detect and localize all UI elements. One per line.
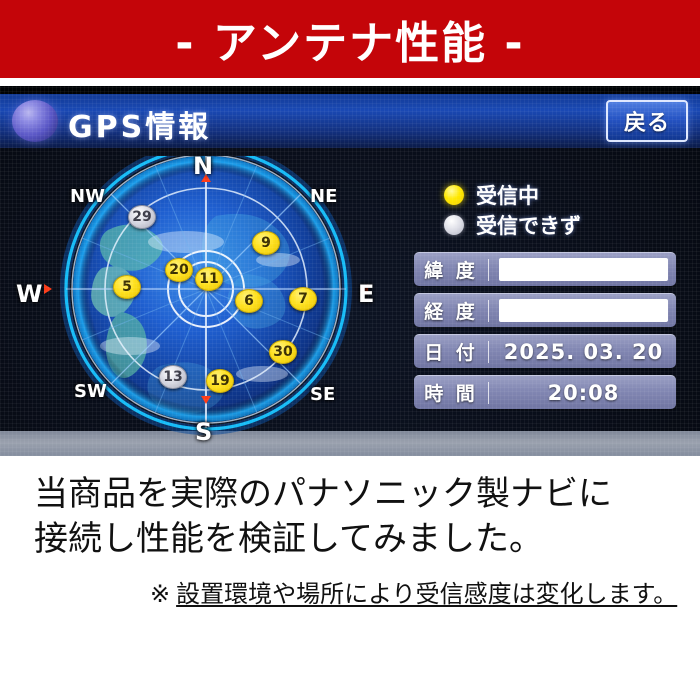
compass-label-ne: NE — [310, 186, 337, 207]
info-row: 緯 度 — [414, 252, 676, 286]
satellite-marker: 9 — [252, 231, 280, 255]
legend-dot-not-receiving-icon — [444, 215, 464, 235]
promo-page: - アンテナ性能 - GPS情報 戻る — [0, 0, 700, 700]
info-row-value: 2025. 03. 20 — [499, 340, 668, 363]
legend-item: 受信中 — [444, 180, 581, 210]
back-button-label: 戻る — [624, 105, 670, 137]
info-row-label: 経 度 — [414, 297, 488, 324]
satellite-skyplot: N S W E NW NE SW SE 2992011567301319 — [10, 156, 410, 446]
satellite-marker: 20 — [165, 258, 193, 282]
screen-title: GPS情報 — [68, 102, 211, 146]
satellite-marker: 30 — [269, 340, 297, 364]
info-row-value: 20:08 — [499, 381, 668, 404]
body-copy-line1: 当商品を実際のパナソニック製ナビに — [34, 472, 674, 517]
disclaimer-note: ※設置環境や場所により受信感度は変化します。 — [150, 578, 690, 610]
navi-screen-photo: GPS情報 戻る — [0, 86, 700, 456]
satellite-marker: 5 — [113, 275, 141, 299]
gps-info-table: 緯 度経 度日 付2025. 03. 20時 間20:08 — [414, 252, 676, 416]
body-copy-line2: 接続し性能を検証してみました。 — [34, 517, 674, 562]
body-copy: 当商品を実際のパナソニック製ナビに 接続し性能を検証してみました。 — [34, 472, 674, 562]
legend-dot-receiving-icon — [444, 185, 464, 205]
screen-top-bezel — [0, 86, 700, 94]
satellite-marker: 19 — [206, 369, 234, 393]
note-mark: ※ — [150, 578, 170, 610]
reception-legend: 受信中 受信できず — [444, 180, 581, 240]
info-row: 時 間20:08 — [414, 375, 676, 409]
legend-label-not-receiving: 受信できず — [476, 210, 581, 240]
compass-label-e: E — [358, 280, 374, 308]
compass-label-w: W — [16, 280, 42, 308]
info-row: 日 付2025. 03. 20 — [414, 334, 676, 368]
info-row-value — [499, 258, 668, 281]
satellite-marker: 13 — [159, 365, 187, 389]
info-row: 経 度 — [414, 293, 676, 327]
compass-label-sw: SW — [74, 381, 107, 402]
info-row-divider — [488, 300, 489, 322]
back-button[interactable]: 戻る — [606, 100, 688, 142]
compass-label-n: N — [193, 152, 213, 180]
info-row-value — [499, 299, 668, 322]
legend-label-receiving: 受信中 — [476, 180, 539, 210]
banner-title: - アンテナ性能 - — [0, 0, 700, 78]
note-text: 設置環境や場所により受信感度は変化します。 — [176, 580, 677, 608]
info-row-divider — [488, 341, 489, 363]
compass-label-nw: NW — [70, 186, 105, 207]
satellite-marker: 7 — [289, 287, 317, 311]
legend-item: 受信できず — [444, 210, 581, 240]
satellite-marker: 11 — [195, 267, 223, 291]
satellite-marker: 29 — [128, 205, 156, 229]
info-row-divider — [488, 382, 489, 404]
compass-label-s: S — [195, 418, 212, 446]
info-row-label: 日 付 — [414, 338, 488, 365]
sphere-icon — [12, 100, 58, 142]
satellite-marker: 6 — [235, 289, 263, 313]
info-row-label: 緯 度 — [414, 256, 488, 283]
compass-label-se: SE — [310, 384, 335, 405]
header-banner: - アンテナ性能 - — [0, 0, 700, 78]
info-row-label: 時 間 — [414, 379, 488, 406]
info-row-divider — [488, 259, 489, 281]
